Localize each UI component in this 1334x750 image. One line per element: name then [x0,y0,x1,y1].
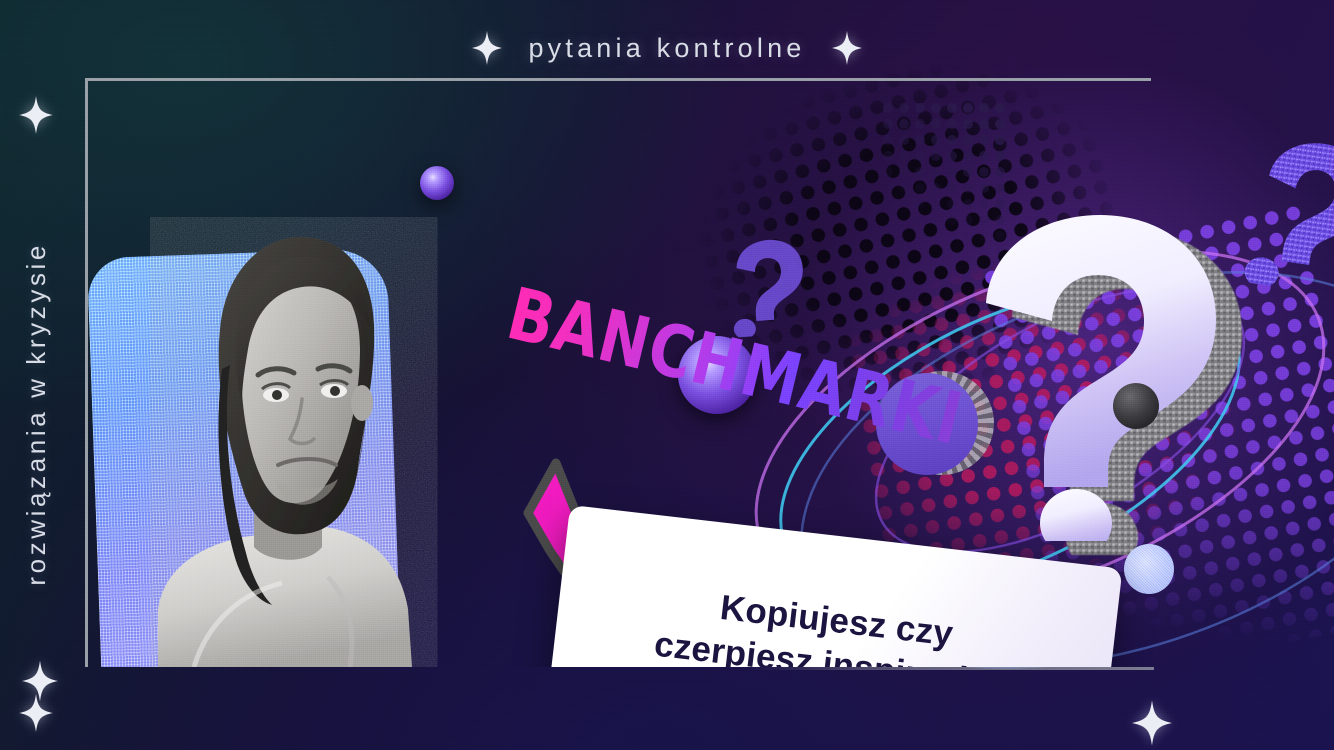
content-frame [85,78,1151,667]
kicker-text: pytania kontrolne [528,33,805,64]
left-side-strip: rozwiązania w kryzysie [0,78,72,750]
sparkle-icon-left [472,31,502,65]
sparkle-icon-bottom-right [1132,700,1172,746]
vertical-topic-label: rozwiązania w kryzysie [21,242,52,586]
question-mark-violet [1238,133,1334,300]
kicker-bar: pytania kontrolne [0,26,1334,70]
sparkle-icon-bottom-left [22,660,58,702]
sparkle-icon-side-top [19,96,53,134]
slide-canvas: pytania kontrolne rozwiązania w kryzysie [0,0,1334,750]
sparkle-icon-right [832,31,862,65]
